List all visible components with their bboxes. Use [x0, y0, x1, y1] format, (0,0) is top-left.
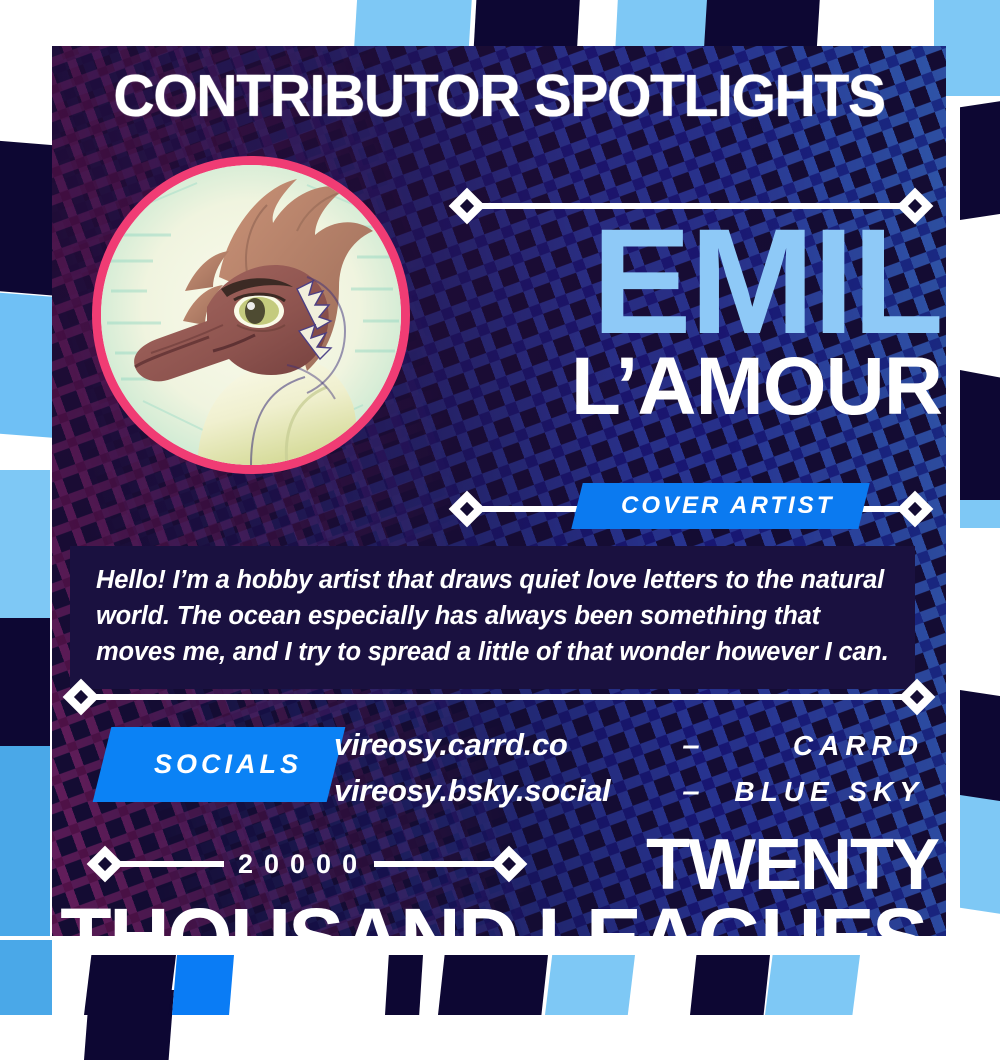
border-band-bottom-8: [690, 955, 770, 1015]
border-band-bottom-3: [84, 955, 176, 1015]
border-band-left-5: [0, 746, 50, 936]
social-dash: –: [664, 773, 718, 809]
divider-bar: [92, 694, 906, 700]
border-band-right-5: [960, 795, 1000, 915]
border-band-right-4: [960, 690, 1000, 810]
spotlight-card: CONTRIBUTOR SPOTLIGHTS: [52, 46, 946, 936]
bird-character-illustration: [101, 165, 401, 465]
brand-line-1: TWENTY: [52, 832, 938, 899]
avatar: [92, 156, 410, 474]
border-band-bottom-10: [0, 940, 52, 1015]
divider-socials: [70, 684, 928, 710]
socials-list: vireosy.carrd.co – CARRD vireosy.bsky.so…: [334, 727, 924, 819]
border-band-bottom-5: [385, 955, 423, 1015]
poster-canvas: CONTRIBUTOR SPOTLIGHTS: [0, 0, 1000, 1000]
brand-wordmark: TWENTY THOUSAND LEAGUES: [52, 832, 946, 936]
first-name: EMIL: [482, 218, 942, 344]
socials-label-text: SOCIALS: [154, 749, 302, 780]
page-title: CONTRIBUTOR SPOTLIGHTS: [65, 62, 932, 130]
socials-label: SOCIALS: [93, 727, 346, 802]
social-row[interactable]: vireosy.carrd.co – CARRD: [334, 727, 924, 773]
border-band-bottom-9: [765, 955, 860, 1015]
brand-line-2: THOUSAND LEAGUES: [52, 899, 938, 936]
border-band-left-3: [0, 470, 50, 620]
social-handle[interactable]: vireosy.carrd.co: [334, 727, 664, 763]
border-band-bottom-6: [438, 955, 548, 1015]
social-handle[interactable]: vireosy.bsky.social: [334, 773, 664, 809]
border-band-right-1: [960, 100, 1000, 220]
contributor-name: EMIL L’AMOUR: [482, 218, 942, 426]
last-name: L’AMOUR: [482, 348, 942, 426]
border-band-right-2: [960, 370, 1000, 520]
social-network: BLUE SKY: [718, 776, 924, 808]
social-network: CARRD: [718, 730, 924, 762]
bio-text: Hello! I’m a hobby artist that draws qui…: [70, 546, 915, 689]
social-row[interactable]: vireosy.bsky.social – BLUE SKY: [334, 773, 924, 819]
border-band-right-3: [960, 500, 1000, 528]
border-band-left-4: [0, 618, 50, 748]
avatar-image: [101, 165, 401, 465]
role-badge: COVER ARTIST: [571, 483, 870, 529]
border-band-bottom-4: [172, 955, 234, 1015]
social-dash: –: [664, 727, 718, 763]
border-band-bottom-7: [545, 955, 635, 1015]
role-badge-label: COVER ARTIST: [621, 492, 834, 520]
